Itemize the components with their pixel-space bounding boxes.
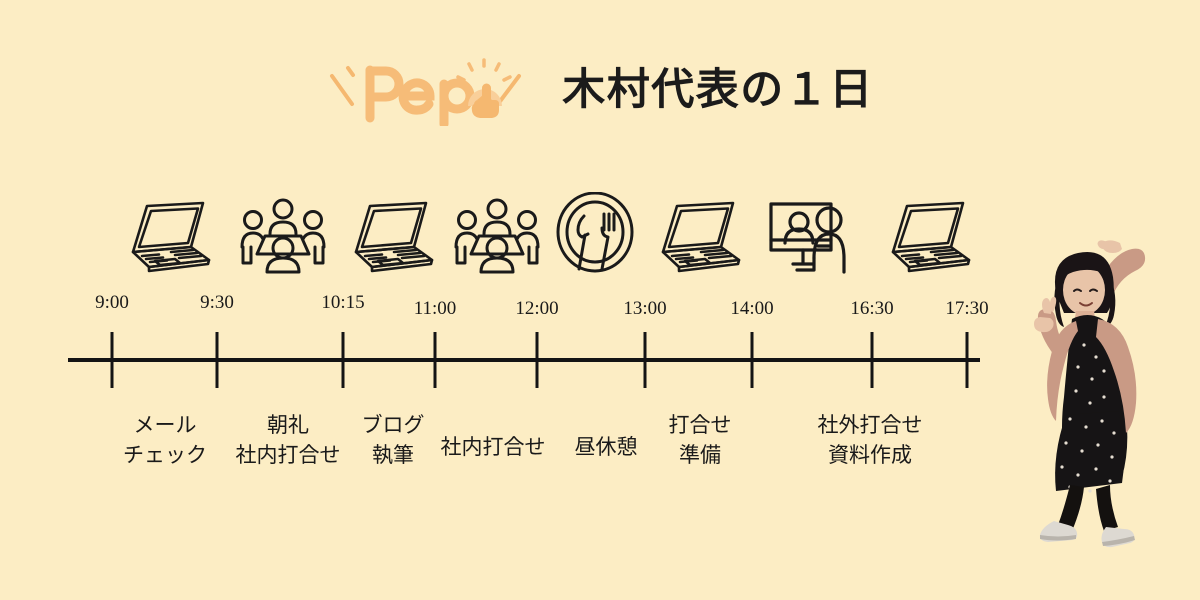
activity-label: 社内打合せ [441,432,546,462]
activity-label-line2: チェック [123,440,207,470]
activity-label: 打合せ 準備 [669,410,732,471]
activity-label-line1: 社外打合せ [818,413,923,437]
activity-label-line2: 執筆 [362,440,425,470]
activity-label-line2: 資料作成 [818,440,923,470]
infographic-root: 木村代表の１日 [0,0,1200,600]
activity-label-line1: 朝礼 [267,413,309,437]
page-title: 木村代表の１日 [562,69,874,112]
activity-label-line2: 準備 [669,440,732,470]
pepo-logo [326,54,526,126]
timeline: 9:00 9:30 10:15 11:00 12:00 13:00 14:00 … [0,180,1000,500]
activity-label-line1: 打合せ [669,413,732,437]
activity-label-line1: 昼休憩 [575,435,638,459]
activity-label: 朝礼 社内打合せ [236,410,341,471]
timeline-label-row: メール チェック 朝礼 社内打合せ ブログ 執筆 社内打合せ 昼休憩 打合せ 準… [0,180,1000,500]
activity-label-line2: 社内打合せ [236,440,341,470]
header: 木村代表の１日 [0,48,1200,132]
activity-label-line1: ブログ [362,413,425,437]
presenter-photo-cutout [1000,215,1200,550]
activity-label: ブログ 執筆 [362,410,425,471]
activity-label: メール チェック [123,410,207,471]
activity-label: 昼休憩 [575,432,638,462]
activity-label: 社外打合せ 資料作成 [818,410,923,471]
activity-label-line1: メール [134,413,197,437]
activity-label-line1: 社内打合せ [441,435,546,459]
